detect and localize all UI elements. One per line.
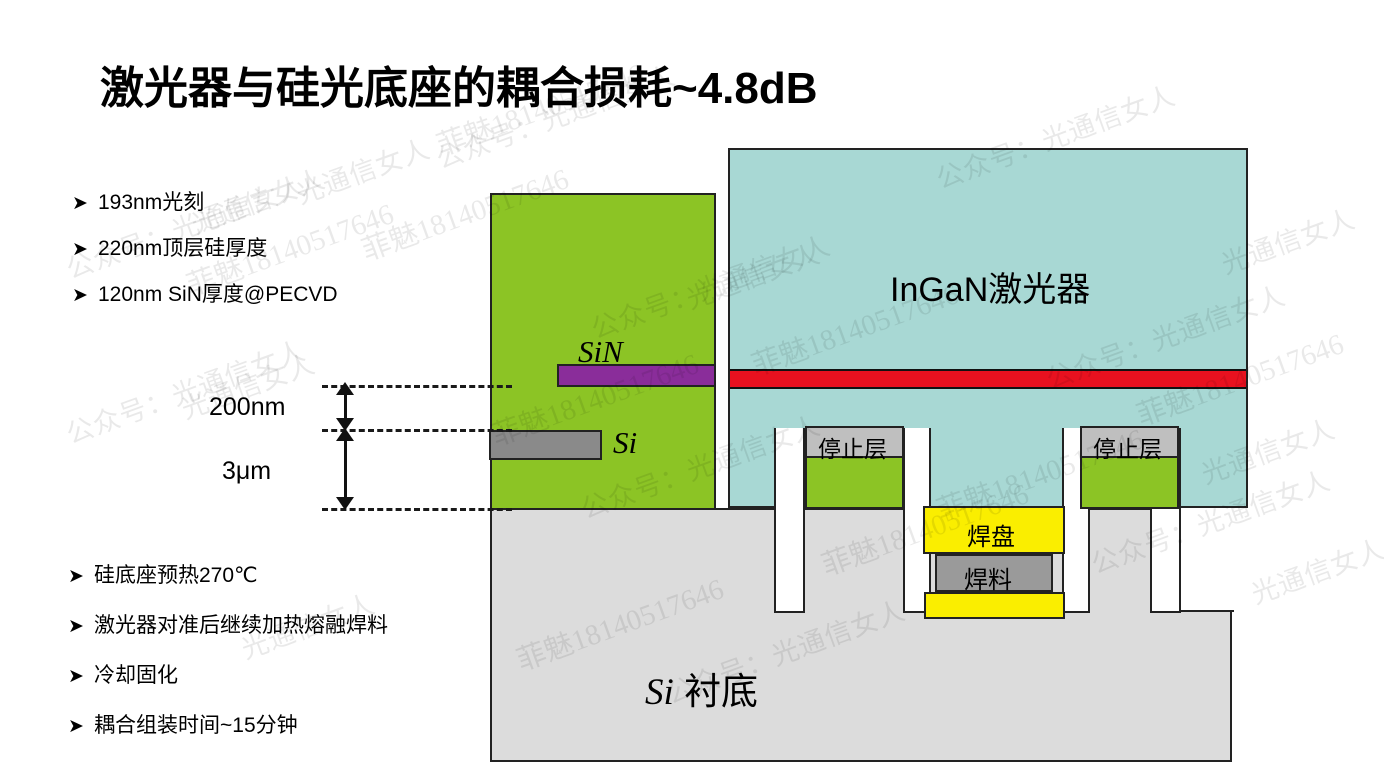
slide-canvas: 激光器与硅光底座的耦合损耗~4.8dB ➤ 193nm光刻 ➤ 220nm顶层硅… xyxy=(0,0,1384,779)
list-item: ➤ 激光器对准后继续加热熔融焊料 xyxy=(68,615,388,636)
bond-pad-label: 焊盘 xyxy=(967,517,1015,552)
bond-pad-lower xyxy=(924,592,1065,619)
list-item: ➤ 耦合组装时间~15分钟 xyxy=(68,715,388,736)
bullet-arrow-icon: ➤ xyxy=(72,284,98,305)
list-item-label: 冷却固化 xyxy=(94,665,178,686)
dimension-arrowhead-up-3um xyxy=(336,428,354,441)
stop-layer-pedestal-right xyxy=(1080,457,1179,509)
dimension-arrowhead-up-200nm xyxy=(336,382,354,395)
bullet-arrow-icon: ➤ xyxy=(72,238,98,259)
bullet-list-process-top: ➤ 193nm光刻 ➤ 220nm顶层硅厚度 ➤ 120nm SiN厚度@PEC… xyxy=(72,192,338,330)
bullet-arrow-icon: ➤ xyxy=(72,192,98,213)
laser-active-layer-stripe xyxy=(730,369,1246,389)
bullet-arrow-icon: ➤ xyxy=(68,565,94,586)
list-item-label: 120nm SiN厚度@PECVD xyxy=(98,284,338,305)
page-title: 激光器与硅光底座的耦合损耗~4.8dB xyxy=(100,52,818,116)
si-substrate-block xyxy=(490,508,1232,762)
list-item-label: 硅底座预热270℃ xyxy=(94,565,258,586)
sin-label: SiN xyxy=(578,334,623,370)
dimension-label-200nm: 200nm xyxy=(209,393,285,422)
list-item-label: 激光器对准后继续加热熔融焊料 xyxy=(94,615,388,636)
list-item-label: 220nm顶层硅厚度 xyxy=(98,238,267,259)
list-item: ➤ 193nm光刻 xyxy=(72,192,338,213)
si-substrate-label: Si 衬底 xyxy=(645,661,758,715)
stop-layer-label-right: 停止层 xyxy=(1093,430,1162,464)
si-substrate-label-si: Si xyxy=(645,672,674,713)
dimension-label-3um: 3μm xyxy=(222,457,271,486)
list-item: ➤ 220nm顶层硅厚度 xyxy=(72,238,338,259)
list-item-label: 193nm光刻 xyxy=(98,192,204,213)
list-item: ➤ 冷却固化 xyxy=(68,665,388,686)
si-waveguide-label: Si xyxy=(613,425,637,461)
dimension-arrow-shaft-3um xyxy=(344,436,347,504)
list-item: ➤ 120nm SiN厚度@PECVD xyxy=(72,284,338,305)
dimension-arrowhead-down-3um xyxy=(336,497,354,510)
watermark-account: 公众号：光通信女人 xyxy=(60,329,310,452)
stop-layer-label-left: 停止层 xyxy=(818,430,887,464)
si-substrate-label-cn: 衬底 xyxy=(684,671,758,712)
stop-layer-pedestal-left xyxy=(805,457,904,509)
solder-label: 焊料 xyxy=(964,560,1012,595)
ingan-laser-label: InGaN激光器 xyxy=(890,262,1090,311)
etched-trench-left xyxy=(774,428,805,613)
watermark-brand: 光通信女人 xyxy=(1245,527,1384,612)
list-item: ➤ 硅底座预热270℃ xyxy=(68,565,388,586)
bullet-arrow-icon: ➤ xyxy=(68,665,94,686)
si-waveguide-bar xyxy=(489,430,602,460)
bullet-arrow-icon: ➤ xyxy=(68,715,94,736)
list-item-label: 耦合组装时间~15分钟 xyxy=(94,715,298,736)
bullet-arrow-icon: ➤ xyxy=(68,615,94,636)
bullet-list-process-bottom: ➤ 硅底座预热270℃ ➤ 激光器对准后继续加热熔融焊料 ➤ 冷却固化 ➤ 耦合… xyxy=(68,565,388,765)
